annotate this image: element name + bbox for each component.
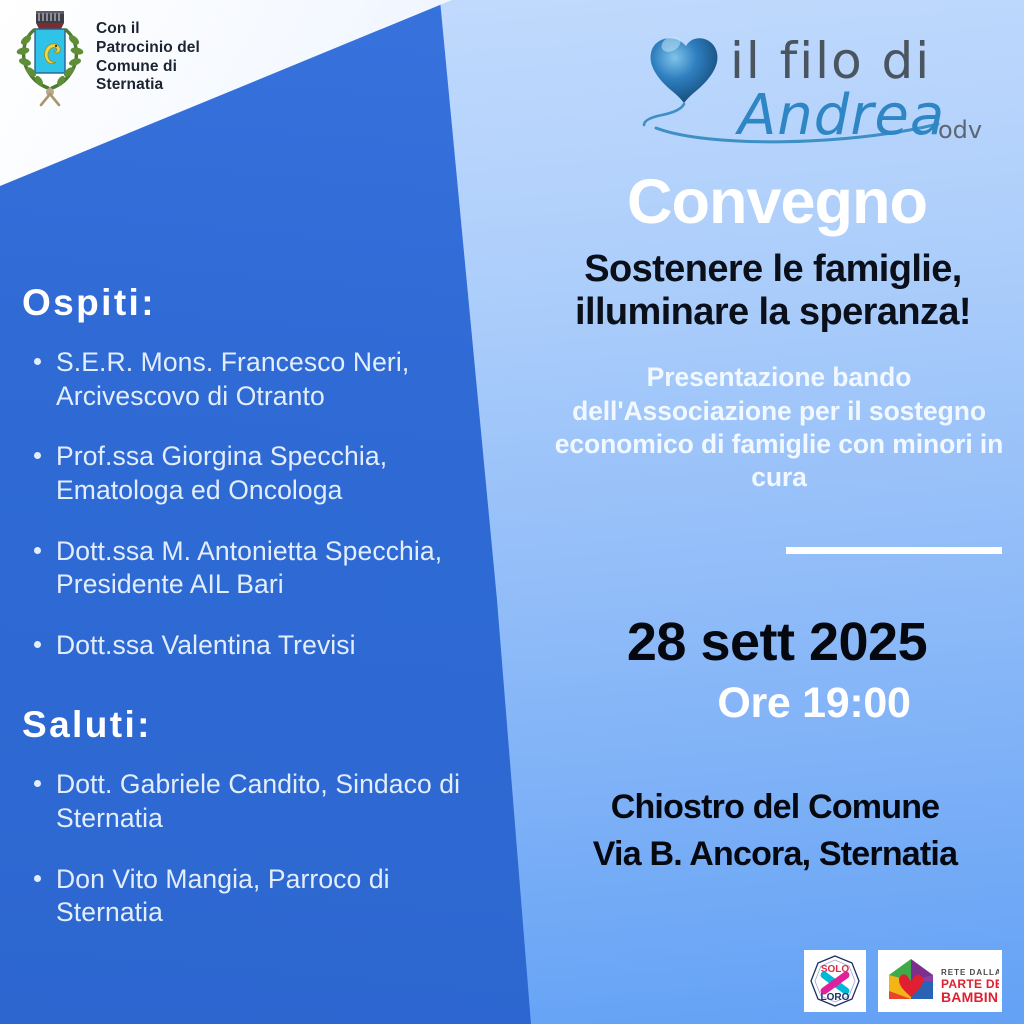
svg-text:il filo di: il filo di <box>730 32 931 90</box>
event-title: Sostenere le famiglie, illuminare la spe… <box>522 248 1024 333</box>
patronage-line-3: Comune di <box>96 58 200 77</box>
guests-list: S.E.R. Mons. Francesco Neri, Arcivescovo… <box>22 346 492 662</box>
il-filo-di-andrea-logo-icon: il filo di Andrea odv <box>638 16 998 156</box>
list-item: Don Vito Mangia, Parroco di Sternatia <box>22 863 492 930</box>
event-details-column: Convegno Sostenere le famiglie, illumina… <box>500 170 1024 878</box>
sponsor-logos: SOLO LORO RETE DALLA PARTE DEI BAMBINI <box>804 950 1002 1012</box>
venue-address: Via B. Ancora, Sternatia <box>526 831 1024 878</box>
association-logo: il filo di Andrea odv <box>638 16 998 156</box>
list-item: Prof.ssa Giorgina Specchia, Ematologa ed… <box>22 440 492 507</box>
list-item: Dott.ssa Valentina Trevisi <box>22 629 492 663</box>
list-item: S.E.R. Mons. Francesco Neri, Arcivescovo… <box>22 346 492 413</box>
event-venue: Chiostro del Comune Via B. Ancora, Stern… <box>526 784 1024 878</box>
patronage-block: Con il Patrocinio del Comune di Sternati… <box>14 6 200 110</box>
sponsor-logo-rete-dalla-parte-dei-bambini: RETE DALLA PARTE DEI BAMBINI <box>878 950 1002 1012</box>
svg-text:RETE DALLA: RETE DALLA <box>941 968 999 977</box>
patronage-text: Con il Patrocinio del Comune di Sternati… <box>96 6 200 95</box>
sternatia-coat-of-arms-icon <box>14 6 86 110</box>
patronage-line-2: Patrocinio del <box>96 39 200 58</box>
divider-rule <box>786 547 1002 554</box>
patronage-line-1: Con il <box>96 20 200 39</box>
list-item: Dott.ssa M. Antonietta Specchia, Preside… <box>22 535 492 602</box>
sponsor-logo-solo-x-loro: SOLO LORO <box>804 950 866 1012</box>
rete-dalla-parte-dei-bambini-icon: RETE DALLA PARTE DEI BAMBINI <box>881 953 999 1009</box>
svg-text:BAMBINI: BAMBINI <box>941 989 999 1005</box>
svg-text:LORO: LORO <box>821 992 850 1003</box>
patronage-line-4: Sternatia <box>96 76 200 95</box>
list-item: Dott. Gabriele Candito, Sindaco di Stern… <box>22 768 492 835</box>
solo-x-loro-icon: SOLO LORO <box>807 953 863 1009</box>
event-time: Ore 19:00 <box>604 679 1024 728</box>
venue-name: Chiostro del Comune <box>526 784 1024 831</box>
speakers-column: Ospiti: S.E.R. Mons. Francesco Neri, Arc… <box>22 282 492 957</box>
greetings-heading: Saluti: <box>22 704 492 746</box>
event-description: Presentazione bando dell'Associazione pe… <box>534 361 1024 495</box>
greetings-list: Dott. Gabriele Candito, Sindaco di Stern… <box>22 768 492 930</box>
svg-text:Andrea: Andrea <box>735 83 945 148</box>
event-kicker: Convegno <box>530 170 1024 234</box>
svg-text:odv: odv <box>938 116 982 144</box>
guests-heading: Ospiti: <box>22 282 492 324</box>
event-date: 28 sett 2025 <box>530 611 1024 673</box>
